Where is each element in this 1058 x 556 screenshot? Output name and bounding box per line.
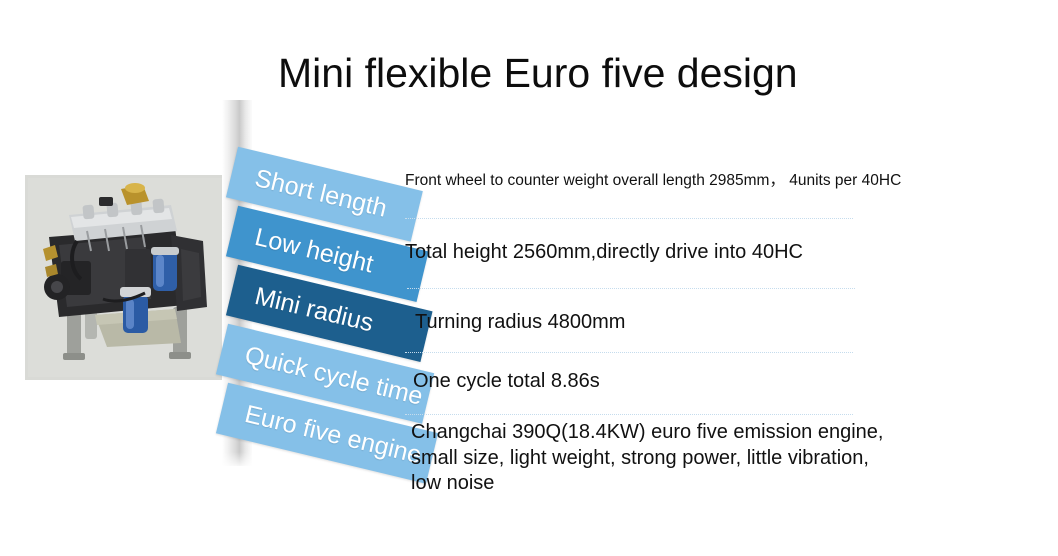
detail-divider (405, 352, 853, 353)
detail-text: Turning radius 4800mm (405, 310, 915, 336)
detail-column: Front wheel to counter weight overall le… (405, 0, 1030, 556)
detail-text: Front wheel to counter weight overall le… (405, 171, 915, 191)
detail-text: Changchai 390Q(18.4KW) euro five emissio… (405, 420, 903, 497)
detail-divider (405, 414, 853, 415)
slide-canvas: Mini flexible Euro five design (0, 0, 1058, 556)
detail-row-mini-radius: Turning radius 4800mm (405, 310, 915, 336)
detail-row-euro-five-engine: Changchai 390Q(18.4KW) euro five emissio… (405, 420, 915, 497)
detail-divider (407, 288, 855, 289)
detail-text: One cycle total 8.86s (405, 369, 915, 395)
detail-divider (405, 218, 853, 219)
detail-text: Total height 2560mm,directly drive into … (405, 240, 915, 266)
detail-row-quick-cycle-time: One cycle total 8.86s (405, 369, 915, 395)
detail-row-short-length: Front wheel to counter weight overall le… (405, 171, 915, 191)
detail-row-low-height: Total height 2560mm,directly drive into … (405, 240, 915, 266)
